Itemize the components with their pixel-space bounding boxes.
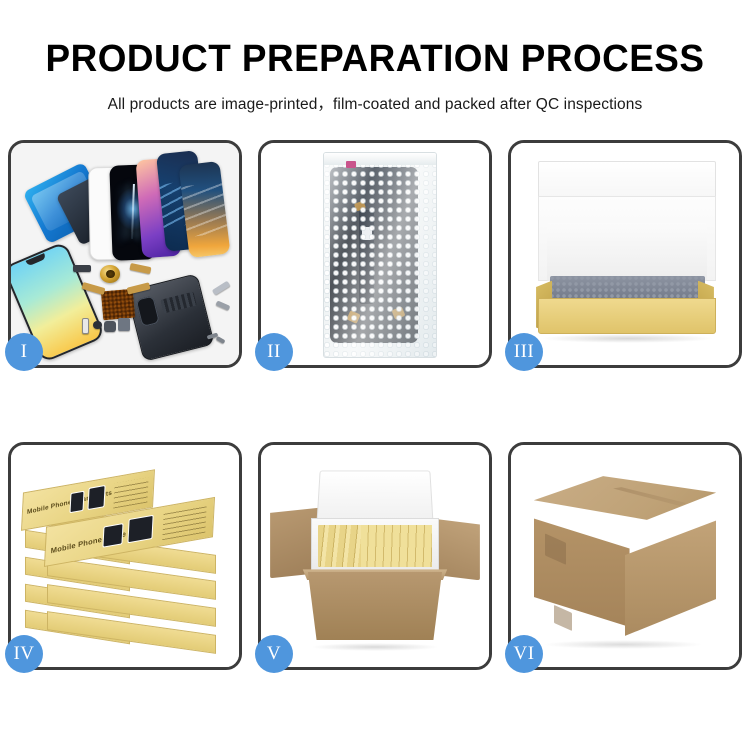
box-artwork-window-icon: [70, 490, 85, 512]
gold-boxes-inside-icon: [361, 525, 432, 567]
carton-tape-mark-icon: [554, 605, 572, 631]
screwdriver-tool-icon: [211, 281, 230, 296]
bag-top-seal: [324, 153, 436, 165]
small-component-icon: [82, 318, 89, 334]
step-image-stacked-retail-boxes: Mobile Phone Spare Parts Mobile Phone Sp…: [11, 445, 239, 667]
step-badge-3: III: [505, 333, 543, 371]
step-badge-5: V: [255, 635, 293, 673]
drop-shadow: [543, 640, 703, 649]
flex-cable-icon: [129, 263, 150, 274]
white-foam-sheet-icon: [547, 223, 707, 281]
small-component-icon: [104, 321, 115, 332]
gold-coil-part-icon: [100, 265, 121, 283]
page-title: PRODUCT PREPARATION PROCESS: [11, 40, 739, 78]
phone-parts-scene: [11, 143, 239, 365]
box-artwork-window-icon: [88, 484, 106, 509]
step-badge-6: VI: [505, 635, 543, 673]
box-artwork-window-icon: [127, 514, 153, 543]
step-badge-2: II: [255, 333, 293, 371]
kraft-box-front-icon: [538, 298, 716, 334]
step-badge-1: I: [5, 333, 43, 371]
drop-shadow: [311, 643, 439, 652]
page-subtitle: All products are image-printed，film-coat…: [0, 92, 750, 114]
box-artwork-window-icon: [102, 523, 123, 548]
product-preparation-process-page: PRODUCT PREPARATION PROCESS All products…: [0, 0, 750, 750]
box-stack: Mobile Phone Spare Parts Mobile Phone Sp…: [11, 445, 239, 667]
drop-shadow: [541, 334, 714, 343]
step-image-carton-with-styrofoam-insert: [261, 445, 489, 667]
step-panel-4[interactable]: Mobile Phone Spare Parts Mobile Phone Sp…: [8, 442, 242, 670]
step-panel-5[interactable]: V: [258, 442, 492, 670]
step-image-phone-parts-and-screens: [11, 143, 239, 365]
box-spec-lines: [162, 505, 207, 539]
plastic-sheen-overlay: [324, 153, 436, 357]
step-image-sealed-shipping-carton: [511, 445, 739, 667]
step-badge-4: IV: [5, 635, 43, 673]
step-panel-3[interactable]: III: [508, 140, 742, 368]
step-image-open-kraft-box-with-foam: [511, 143, 739, 365]
step-panel-2[interactable]: II: [258, 140, 492, 368]
step-panel-1[interactable]: I: [8, 140, 242, 368]
pink-qc-label-icon: [346, 161, 356, 168]
tweezer-tool-icon: [216, 300, 230, 310]
carton-front-icon: [302, 572, 448, 641]
small-component-icon: [118, 318, 129, 330]
process-steps-grid: I II: [8, 140, 742, 670]
carton-right-face-icon: [625, 520, 716, 635]
screw-icon: [216, 336, 226, 344]
step-image-bubble-wrap-sealed-screen: [261, 143, 489, 365]
carton-left-face-icon: [534, 512, 630, 627]
small-component-icon: [73, 265, 91, 272]
step-panel-6[interactable]: VI: [508, 442, 742, 670]
bubble-wrap-bag: [323, 152, 437, 358]
header: PRODUCT PREPARATION PROCESS All products…: [0, 0, 750, 114]
box-spec-lines: [114, 477, 149, 508]
